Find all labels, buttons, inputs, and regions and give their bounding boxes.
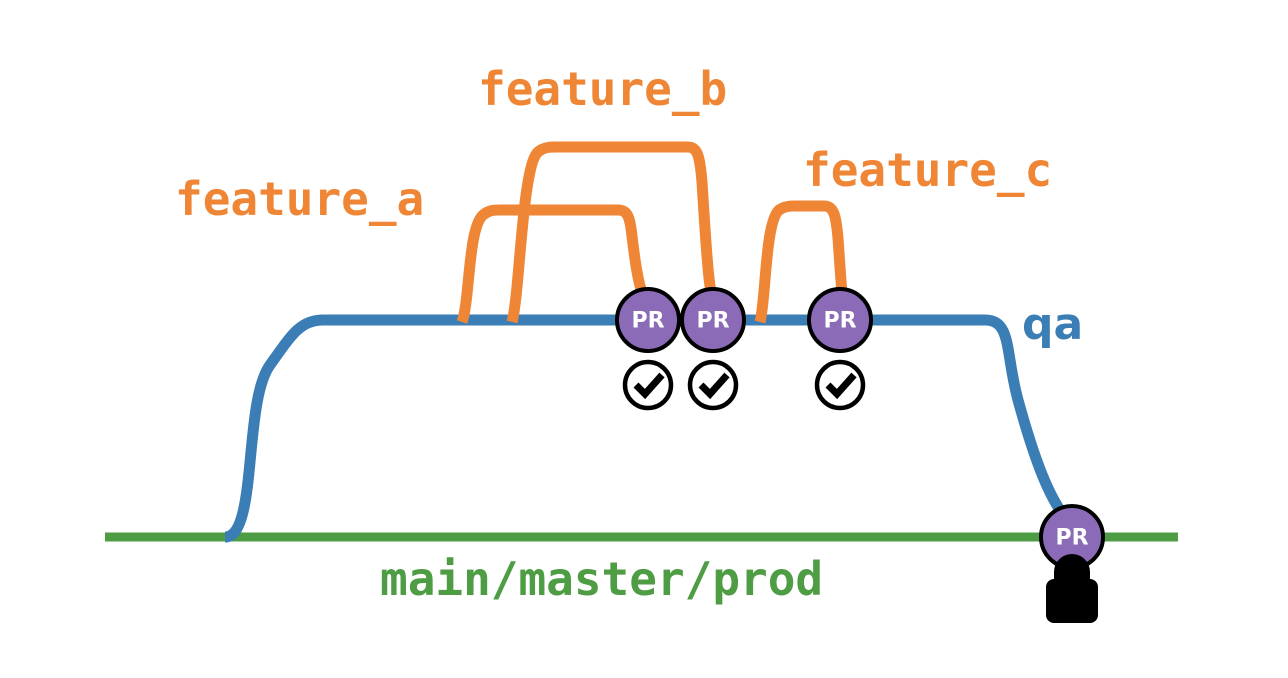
branch-label-qa: qa: [1022, 299, 1083, 350]
pr-node-label: PR: [823, 309, 856, 334]
check-circle-outline: [817, 362, 863, 408]
pr-node-feature-c[interactable]: PR: [809, 289, 871, 351]
branch-label-feature-b: feature_b: [478, 62, 727, 116]
pr-node-label: PR: [696, 309, 729, 334]
pr-node-feature-b[interactable]: PR: [682, 289, 744, 351]
branch-feature-a: [462, 210, 642, 322]
feature-b-branch-line: [512, 147, 711, 322]
branch-label-main: main/master/prod: [380, 552, 823, 606]
pr-node-label: PR: [631, 309, 664, 334]
check-circle-icon-feature-a: [625, 362, 671, 408]
branch-label-feature-a: feature_a: [175, 172, 424, 226]
lock-icon: [1050, 558, 1094, 619]
branch-label-feature-c: feature_c: [803, 143, 1052, 197]
git-branching-diagram: feature_a feature_b feature_c main/maste…: [0, 0, 1288, 678]
pr-node-feature-a[interactable]: PR: [617, 289, 679, 351]
branch-feature-b: [512, 147, 711, 322]
check-circle-icon-feature-b: [690, 362, 736, 408]
feature-a-branch-line: [462, 210, 642, 322]
check-circle-outline: [690, 362, 736, 408]
check-circle-outline: [625, 362, 671, 408]
check-circle-icon-feature-c: [817, 362, 863, 408]
pr-node-label: PR: [1055, 526, 1088, 551]
